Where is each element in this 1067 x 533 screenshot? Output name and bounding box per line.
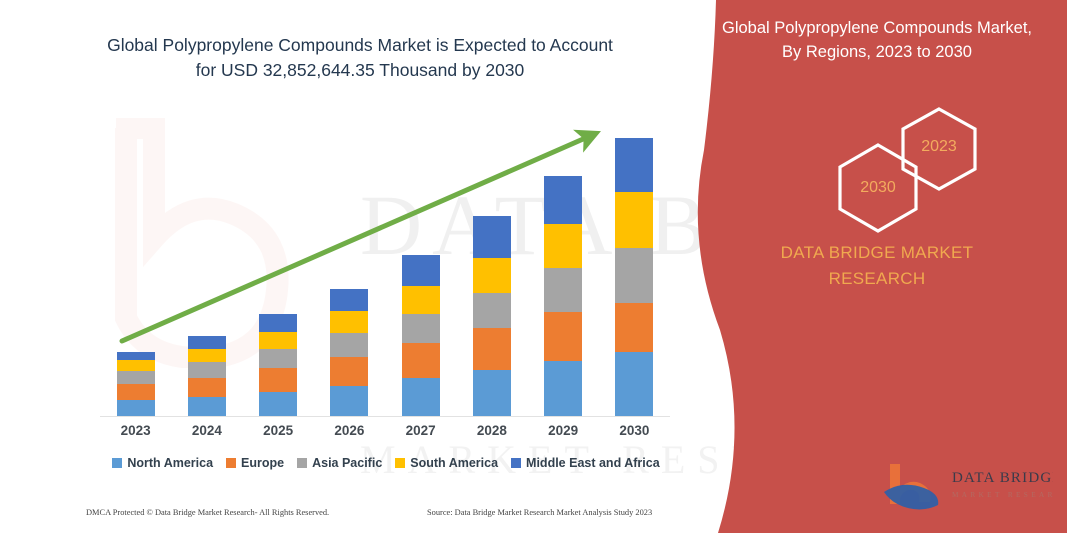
logo-text-main: DATA BRIDGE	[952, 470, 1053, 486]
x-axis-tick: 2023	[101, 423, 171, 438]
legend-swatch	[395, 458, 405, 468]
bar-segment	[544, 224, 582, 268]
hexagon-2030-label: 2030	[860, 179, 896, 197]
bar-segment	[402, 314, 440, 343]
logo-text-sub: MARKET RESEARCH	[952, 491, 1053, 499]
legend-label: South America	[410, 456, 498, 470]
legend-item[interactable]: Europe	[226, 456, 284, 470]
bar-segment	[402, 378, 440, 416]
bar-segment	[259, 314, 297, 332]
x-axis-tick: 2026	[314, 423, 384, 438]
bar-segment	[188, 397, 226, 416]
bar-segment	[544, 268, 582, 312]
brand-name-line-1: DATA BRIDGE MARKET	[712, 240, 1042, 266]
x-axis-tick: 2029	[528, 423, 598, 438]
bar-segment	[117, 360, 155, 371]
infographic-root: DATA BRIDGE MARKET RESEARCH Global Polyp…	[0, 0, 1067, 533]
legend-swatch	[112, 458, 122, 468]
x-axis-labels: 20232024202520262027202820292030	[100, 423, 670, 438]
bar-segment	[188, 362, 226, 378]
x-axis-tick: 2027	[386, 423, 456, 438]
bar-segment	[188, 349, 226, 362]
legend-item[interactable]: Asia Pacific	[297, 456, 382, 470]
legend-swatch	[511, 458, 521, 468]
panel-title: Global Polypropylene Compounds Market, B…	[712, 17, 1042, 65]
bar-segment	[188, 378, 226, 397]
legend-label: Asia Pacific	[312, 456, 382, 470]
x-axis-tick: 2024	[172, 423, 242, 438]
bar-segment	[259, 368, 297, 392]
bar-segment	[259, 349, 297, 368]
bar-column	[528, 120, 598, 416]
stacked-bar[interactable]	[330, 289, 368, 416]
bar-column	[314, 120, 384, 416]
footer-copyright: DMCA Protected © Data Bridge Market Rese…	[86, 508, 329, 517]
chart-title: Global Polypropylene Compounds Market is…	[104, 33, 616, 83]
stacked-bar-series	[100, 120, 670, 416]
bar-segment	[330, 386, 368, 416]
x-axis-tick: 2025	[243, 423, 313, 438]
bar-segment	[259, 392, 297, 416]
brand-name-line-2: RESEARCH	[712, 266, 1042, 292]
bar-segment	[473, 328, 511, 370]
bar-segment	[330, 289, 368, 311]
stacked-bar[interactable]	[473, 216, 511, 416]
hexagon-2030[interactable]: 2030	[832, 141, 924, 235]
chart-area: Global Polypropylene Compounds Market is…	[0, 0, 700, 533]
legend-swatch	[297, 458, 307, 468]
bar-segment	[544, 312, 582, 361]
bar-column	[243, 120, 313, 416]
legend-item[interactable]: South America	[395, 456, 498, 470]
bar-segment	[117, 352, 155, 360]
stacked-bar[interactable]	[259, 314, 297, 416]
bar-segment	[117, 400, 155, 416]
bar-segment	[473, 293, 511, 328]
stacked-bar[interactable]	[188, 336, 226, 416]
bar-segment	[188, 336, 226, 349]
bar-segment	[330, 333, 368, 357]
data-bridge-logo[interactable]: DATA BRIDGE MARKET RESEARCH	[878, 458, 1053, 513]
right-panel: Global Polypropylene Compounds Market, B…	[600, 0, 1067, 533]
bar-segment	[473, 258, 511, 293]
bar-column	[172, 120, 242, 416]
hexagon-2023-label: 2023	[921, 138, 957, 156]
bar-segment	[330, 357, 368, 386]
bar-segment	[473, 370, 511, 416]
bar-column	[101, 120, 171, 416]
bar-segment	[259, 332, 297, 349]
chart-legend: North AmericaEuropeAsia PacificSouth Ame…	[100, 456, 672, 470]
x-axis-tick: 2028	[457, 423, 527, 438]
bar-segment	[402, 255, 440, 286]
bar-segment	[402, 343, 440, 378]
stacked-bar[interactable]	[402, 255, 440, 416]
bar-segment	[117, 384, 155, 400]
brand-name: DATA BRIDGE MARKET RESEARCH	[712, 240, 1042, 291]
bar-segment	[402, 286, 440, 314]
bar-segment	[544, 361, 582, 416]
bar-column	[457, 120, 527, 416]
bar-segment	[117, 371, 155, 384]
legend-item[interactable]: North America	[112, 456, 213, 470]
bar-segment	[330, 311, 368, 333]
chart-baseline	[100, 416, 670, 417]
bar-segment	[473, 216, 511, 258]
legend-label: Europe	[241, 456, 284, 470]
stacked-bar[interactable]	[117, 352, 155, 416]
legend-label: North America	[127, 456, 213, 470]
bar-segment	[544, 176, 582, 224]
legend-swatch	[226, 458, 236, 468]
stacked-bar[interactable]	[544, 176, 582, 416]
bar-column	[386, 120, 456, 416]
